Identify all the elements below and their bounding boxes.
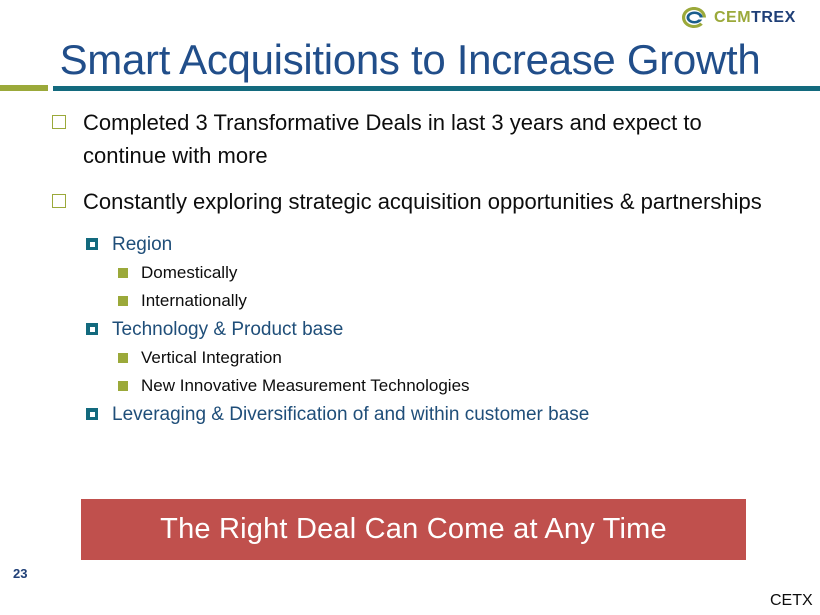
bullet-list: Completed 3 Transformative Deals in last… — [0, 106, 820, 430]
list-item-label: Completed 3 Transformative Deals in last… — [83, 106, 783, 172]
divider-line-teal — [53, 86, 820, 91]
square-filled-bullet-icon — [118, 381, 128, 391]
list-item: New Innovative Measurement Technologies — [0, 373, 820, 399]
logo-text-trex: TREX — [751, 9, 796, 26]
logo-text-cem: CEM — [714, 9, 751, 26]
square-filled-bullet-icon — [118, 296, 128, 306]
list-item: Constantly exploring strategic acquisiti… — [0, 185, 820, 218]
highlight-banner: The Right Deal Can Come at Any Time — [81, 499, 746, 560]
list-item: Vertical Integration — [0, 345, 820, 371]
list-item-label: Region — [112, 231, 820, 258]
banner-text: The Right Deal Can Come at Any Time — [160, 513, 667, 546]
list-item: Internationally — [0, 288, 820, 314]
slide: CEMTREX Smart Acquisitions to Increase G… — [0, 0, 820, 615]
list-item-label: Leveraging & Diversification of and with… — [112, 401, 820, 428]
list-item-label: New Innovative Measurement Technologies — [141, 373, 820, 399]
list-item: Region — [0, 231, 820, 258]
cemtrex-logo: CEMTREX — [681, 6, 796, 29]
list-item-label: Domestically — [141, 260, 820, 286]
list-item-label: Constantly exploring strategic acquisiti… — [83, 185, 783, 218]
square-dot-bullet-icon — [86, 238, 98, 250]
list-item: Leveraging & Diversification of and with… — [0, 401, 820, 428]
logo-wordmark: CEMTREX — [714, 10, 796, 26]
slide-title: Smart Acquisitions to Increase Growth — [0, 36, 820, 84]
list-item: Domestically — [0, 260, 820, 286]
square-filled-bullet-icon — [118, 268, 128, 278]
list-item: Completed 3 Transformative Deals in last… — [0, 106, 820, 172]
list-item-label: Technology & Product base — [112, 316, 820, 343]
spacer — [0, 222, 820, 231]
square-filled-bullet-icon — [118, 353, 128, 363]
square-dot-bullet-icon — [86, 408, 98, 420]
list-item: Technology & Product base — [0, 316, 820, 343]
spacer — [0, 176, 820, 185]
cemtrex-swirl-icon — [681, 6, 707, 29]
list-item-label: Vertical Integration — [141, 345, 820, 371]
divider-accent-olive — [0, 85, 48, 91]
square-outline-bullet-icon — [52, 194, 66, 208]
page-number: 23 — [13, 566, 27, 581]
square-outline-bullet-icon — [52, 115, 66, 129]
ticker-symbol: CETX — [770, 592, 813, 610]
square-dot-bullet-icon — [86, 323, 98, 335]
list-item-label: Internationally — [141, 288, 820, 314]
